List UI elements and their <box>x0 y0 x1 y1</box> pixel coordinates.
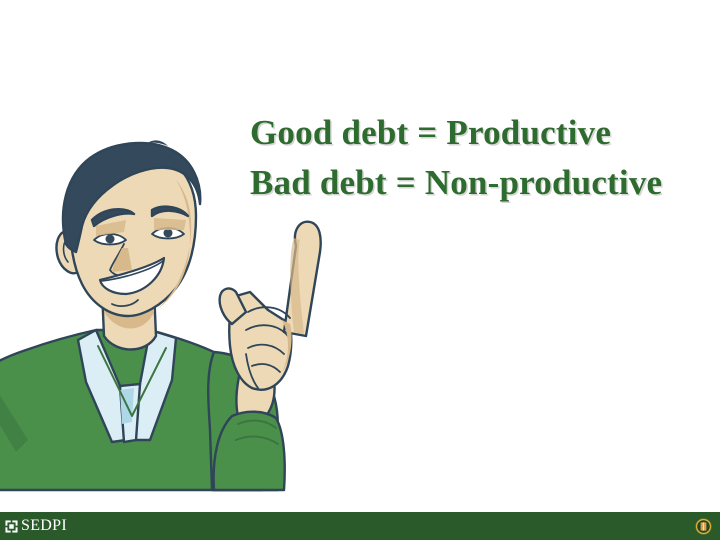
brand-name-label: SEDPI <box>21 518 67 534</box>
slide-canvas: Good debt = Productive Bad debt = Non-pr… <box>0 0 720 540</box>
man-pointing-svg <box>0 140 380 500</box>
square-emblem-icon <box>5 520 18 533</box>
man-pointing-illustration <box>0 140 380 500</box>
circular-book-badge-icon[interactable] <box>695 518 712 535</box>
brand-logo[interactable]: SEDPI <box>5 518 67 534</box>
footer-bar: SEDPI <box>0 512 720 540</box>
